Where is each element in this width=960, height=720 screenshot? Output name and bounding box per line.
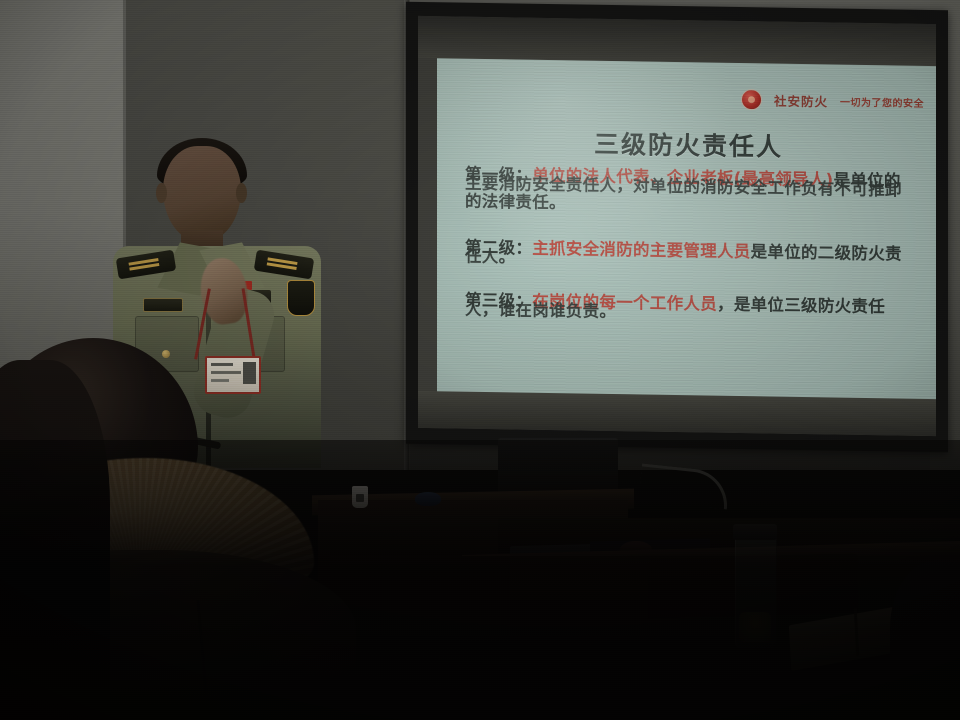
brand-tagline: 一切为了您的安全 xyxy=(840,94,924,110)
brand-name: 社安防火 xyxy=(774,91,828,111)
paragraph-2-rest: 是单位的二级防火责 xyxy=(751,242,902,263)
desk-lamp-arm xyxy=(638,463,730,509)
rank-bar-icon xyxy=(268,257,298,264)
slide-brand-row: 社安防火 一切为了您的安全 xyxy=(437,84,924,113)
rank-bar-icon xyxy=(129,258,159,265)
shoulder-patch-icon xyxy=(287,280,315,316)
fire-shield-badge-icon xyxy=(741,89,762,110)
paragraph-3-ghost-line-1: 人，谁在岗谁负责。 xyxy=(465,300,616,322)
lecture-room-photo: 社安防火 一切为了您的安全 三级防火责任人 第一级：单位的法人代表、企业老板(最… xyxy=(0,0,960,720)
uniform-name-tag xyxy=(143,298,183,312)
presenter-ear-right xyxy=(236,183,247,203)
paragraph-2-ghost-line-1: 任人。 xyxy=(465,247,515,268)
presenter-ear-left xyxy=(156,183,167,203)
tea-leaves xyxy=(739,612,771,642)
computer-mouse-front xyxy=(415,492,441,506)
slide-paragraph-2: 第二级：主抓安全消防的主要管理人员是单位的二级防火责 任人。 xyxy=(465,238,920,281)
slide-title: 三级防火责任人 xyxy=(437,122,936,166)
paragraph-3-rest: ，是单位三级防火责任 xyxy=(717,295,885,317)
jar-lid xyxy=(733,524,777,540)
projected-slide: 社安防火 一切为了您的安全 三级防火责任人 第一级：单位的法人代表、企业老板(最… xyxy=(437,58,936,399)
slide-body: 第一级：单位的法人代表、企业老板(最高领导人)是单位的 主要消防安全责任人，对单… xyxy=(465,165,920,351)
attendee-right xyxy=(890,560,960,720)
presenter-head xyxy=(163,146,241,242)
slide-paragraph-3: 第三级：在岗位的每一个工作人员，是单位三级防火责任 人，谁在岗谁负责。 xyxy=(465,291,920,334)
paragraph-2-line-1: 第二级：主抓安全消防的主要管理人员是单位的二级防火责 xyxy=(465,238,920,265)
paragraph-2-highlight: 主抓安全消防的主要管理人员 xyxy=(532,239,750,261)
attendee-left-edge xyxy=(0,360,110,720)
projection-screen: 社安防火 一切为了您的安全 三级防火责任人 第一级：单位的法人代表、企业老板(最… xyxy=(406,2,948,453)
screen-surface: 社安防火 一切为了您的安全 三级防火责任人 第一级：单位的法人代表、企业老板(最… xyxy=(418,16,936,436)
slide-paragraph-1: 第一级：单位的法人代表、企业老板(最高领导人)是单位的 主要消防安全责任人，对单… xyxy=(465,165,920,228)
paragraph-1-ghost-line-2: 的法律责任。 xyxy=(465,192,566,214)
